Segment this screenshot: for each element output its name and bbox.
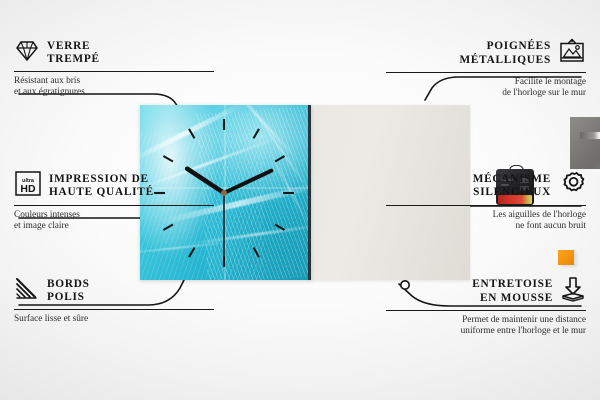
feature-title: VERRE TREMPÉ (47, 40, 100, 67)
feature-divider (386, 310, 586, 311)
feature-title: BORDS POLIS (47, 278, 90, 305)
polished-edge-icon (14, 277, 40, 306)
feature-mecanisme-silencieux: MÉCANISME SILENCIEUX Les aiguilles de l'… (386, 170, 586, 233)
feature-header: BORDS POLIS (14, 276, 214, 306)
minute-hand (224, 171, 271, 193)
feature-title: IMPRESSION DE HAUTE QUALITÉ (49, 173, 154, 200)
feature-bords-polis: BORDS POLIS Surface lisse et sûre (14, 276, 214, 325)
feature-description: Les aiguilles de l'horloge ne font aucun… (386, 210, 586, 233)
feature-header: POIGNÉES MÉTALLIQUES (386, 38, 586, 69)
foam-spacer-arrow-icon (560, 276, 586, 307)
clock-tick (189, 129, 195, 139)
feature-header: ENTRETOISE EN MOUSSE (386, 276, 586, 307)
feature-divider (14, 309, 214, 310)
foam-spacer (558, 250, 574, 265)
clock-tick (275, 225, 285, 231)
feature-description: Couleurs intenses et image claire (14, 210, 214, 233)
diamond-icon (14, 39, 40, 68)
clock-tick (254, 248, 260, 258)
feature-impression-hd: ultra HD IMPRESSION DE HAUTE QUALITÉ Cou… (14, 170, 214, 233)
feature-header: VERRE TREMPÉ (14, 38, 214, 68)
gear-icon (558, 170, 586, 202)
feature-verre-trempe: VERRE TREMPÉ Résistant aux bris et aux é… (14, 38, 214, 99)
ultra-hd-big-text: HD (20, 183, 36, 195)
feature-header: ultra HD IMPRESSION DE HAUTE QUALITÉ (14, 170, 214, 202)
feature-title: MÉCANISME SILENCIEUX (473, 173, 551, 200)
feature-description: Facilite le montage de l'horloge sur le … (386, 77, 586, 100)
ultra-hd-icon: ultra HD (14, 170, 42, 202)
clock-center-cap (221, 190, 227, 196)
feature-poignees-metalliques: POIGNÉES MÉTALLIQUES Facilite le montage… (386, 38, 586, 100)
hanger-keyhole-slot (580, 132, 600, 139)
feature-header: MÉCANISME SILENCIEUX (386, 170, 586, 202)
feature-description: Permet de maintenir une distance uniform… (386, 315, 586, 338)
feature-description: Surface lisse et sûre (14, 314, 214, 325)
clock-tick (254, 129, 260, 139)
feature-divider (14, 205, 214, 206)
feature-divider (386, 72, 586, 73)
feature-divider (386, 205, 586, 206)
feature-title: ENTRETOISE EN MOUSSE (472, 278, 553, 305)
feature-description: Résistant aux bris et aux égratignures (14, 76, 214, 99)
metal-hanger-plate (570, 117, 600, 169)
clock-tick (275, 156, 285, 162)
clock-tick (163, 156, 173, 162)
feature-title: POIGNÉES MÉTALLIQUES (459, 40, 551, 67)
clock-tick (189, 248, 195, 258)
feature-divider (14, 71, 214, 72)
feature-entretoise-mousse: ENTRETOISE EN MOUSSE Permet de maintenir… (386, 276, 586, 338)
framed-picture-icon (558, 38, 586, 69)
infographic-canvas: VERRE TREMPÉ Résistant aux bris et aux é… (0, 0, 600, 400)
